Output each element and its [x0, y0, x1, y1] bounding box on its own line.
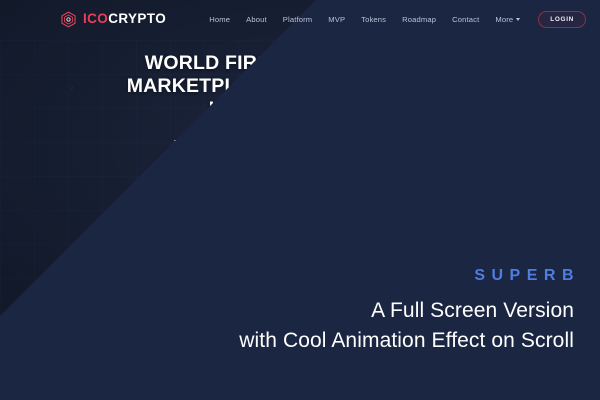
- soft-cap-label: SOFT CAP: [156, 311, 185, 317]
- raised-value: 1,1250 Tokens: [87, 283, 137, 290]
- caption-line-2: with Cool Animation Effect on Scroll: [239, 326, 574, 356]
- background-footer-item: FUNDS ALLOCATION: [157, 376, 211, 382]
- brand-text: ICOCRYPTO: [83, 12, 166, 26]
- nav-item-mvp[interactable]: MVP: [320, 11, 353, 28]
- slider-fill: [58, 301, 166, 304]
- site-header: ICOCRYPTO Home About Platform MVP Tokens…: [0, 0, 600, 38]
- nav-item-about[interactable]: About: [238, 11, 275, 28]
- raised-progress-block: RAISED : 1,1250 Tokens SOFT CAP: [58, 283, 268, 307]
- nav-item-platform[interactable]: Platform: [275, 11, 320, 28]
- raised-label-row: RAISED : 1,1250 Tokens: [58, 283, 268, 290]
- slider-handle[interactable]: [160, 297, 170, 307]
- brand-name-primary: ICO: [83, 11, 108, 26]
- brand-name-secondary: CRYPTO: [108, 11, 166, 26]
- main-navigation: Home About Platform MVP Tokens Roadmap C…: [201, 11, 586, 28]
- raised-label: RAISED :: [58, 284, 85, 290]
- nav-item-contact[interactable]: Contact: [444, 11, 487, 28]
- hero-section: WORLD FIRST DECENTRALIZED MARKETPLACE WI…: [0, 52, 600, 201]
- hexagon-logo-icon: [60, 11, 77, 28]
- private-sale-button[interactable]: PRIVATE SALE: [246, 178, 353, 201]
- background-footer-item: BOUNTY PROGRAM: [250, 376, 302, 382]
- chevron-down-icon: [516, 18, 520, 21]
- promo-caption: SUPERB A Full Screen Version with Cool A…: [239, 268, 574, 356]
- nav-item-more[interactable]: More: [487, 11, 528, 28]
- background-footer-row: TOKEN DISTRIBUTION FUNDS ALLOCATION BOUN…: [60, 376, 480, 382]
- hero-preview-screenshot: ICOCRYPTO Home About Platform MVP Tokens…: [0, 0, 600, 400]
- raised-slider[interactable]: SOFT CAP: [58, 297, 268, 307]
- hero-title: WORLD FIRST DECENTRALIZED MARKETPLACE WI…: [0, 52, 600, 121]
- nav-item-more-label: More: [495, 15, 513, 24]
- caption-kicker: SUPERB: [239, 268, 580, 284]
- brand-logo[interactable]: ICOCRYPTO: [60, 11, 166, 28]
- nav-item-tokens[interactable]: Tokens: [353, 11, 394, 28]
- hero-cta-wrapper: PRIVATE SALE: [0, 178, 600, 201]
- hero-subtitle: The first decentralized Marketplace whic…: [0, 137, 600, 164]
- login-button[interactable]: LOGIN: [538, 11, 586, 28]
- caption-line-1: A Full Screen Version: [239, 296, 574, 326]
- nav-item-roadmap[interactable]: Roadmap: [394, 11, 444, 28]
- nav-item-home[interactable]: Home: [201, 11, 238, 28]
- background-footer-item: TOKEN DISTRIBUTION: [60, 376, 119, 382]
